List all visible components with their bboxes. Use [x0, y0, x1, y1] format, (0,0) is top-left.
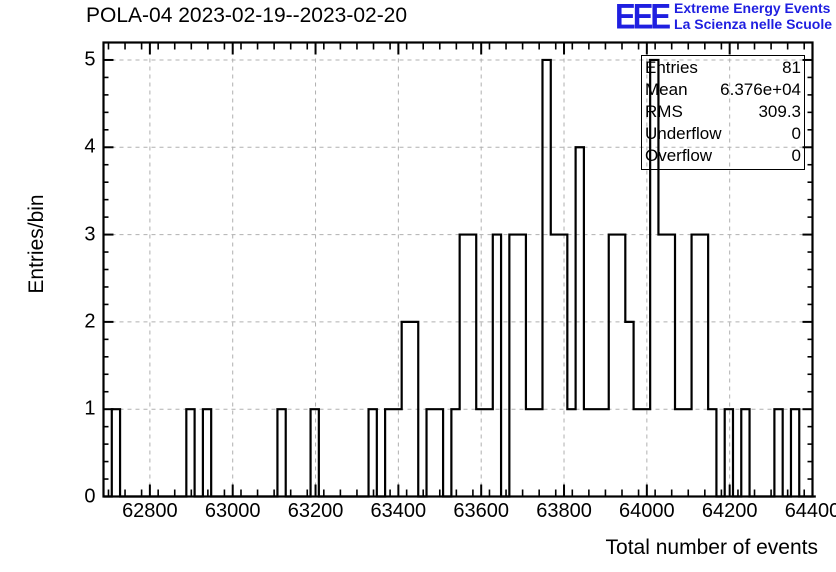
x-tick-label: 63200 — [271, 500, 361, 523]
stats-key-underflow: Underflow — [645, 123, 722, 145]
root-canvas: POLA-04 2023-02-19--2023-02-20 EEE Extre… — [0, 0, 836, 572]
stats-value-mean: 6.376e+04 — [720, 79, 801, 101]
stats-key-rms: RMS — [645, 101, 683, 123]
stats-row-underflow: Underflow 0 — [645, 123, 801, 145]
x-tick-label: 63000 — [188, 500, 278, 523]
eee-logo-mark: EEE — [615, 0, 668, 34]
y-axis-title: Entries/bin — [25, 144, 49, 344]
x-tick-label: 63600 — [436, 500, 526, 523]
stats-row-overflow: Overflow 0 — [645, 145, 801, 167]
stats-row-entries: Entries 81 — [645, 57, 801, 79]
x-tick-label: 64000 — [602, 500, 692, 523]
y-tick-label: 4 — [56, 136, 96, 159]
eee-logo-line2: La Scienza nelle Scuole — [674, 17, 832, 33]
x-tick-label: 64400 — [768, 500, 836, 523]
y-tick-label: 1 — [56, 398, 96, 421]
stats-key-mean: Mean — [645, 79, 688, 101]
stats-box: Entries 81 Mean 6.376e+04 RMS 309.3 Unde… — [641, 55, 805, 170]
y-tick-label: 2 — [56, 310, 96, 333]
eee-logo-line1: Extreme Energy Events — [674, 1, 832, 17]
x-axis-title: Total number of events — [0, 536, 818, 560]
stats-value-underflow: 0 — [792, 123, 801, 145]
y-tick-label: 3 — [56, 223, 96, 246]
stats-row-mean: Mean 6.376e+04 — [645, 79, 801, 101]
y-tick-label: 5 — [56, 48, 96, 71]
stats-key-entries: Entries — [645, 57, 698, 79]
x-tick-label: 63400 — [353, 500, 443, 523]
stats-value-entries: 81 — [782, 57, 801, 79]
x-tick-label: 62800 — [105, 500, 195, 523]
x-tick-label: 63800 — [519, 500, 609, 523]
y-tick-label: 0 — [56, 485, 96, 508]
stats-value-overflow: 0 — [792, 145, 801, 167]
page-title: POLA-04 2023-02-19--2023-02-20 — [86, 4, 407, 28]
eee-logo: EEE Extreme Energy Events La Scienza nel… — [615, 1, 832, 32]
stats-value-rms: 309.3 — [758, 101, 801, 123]
stats-key-overflow: Overflow — [645, 145, 712, 167]
x-tick-label: 64200 — [685, 500, 775, 523]
stats-row-rms: RMS 309.3 — [645, 101, 801, 123]
eee-logo-text: Extreme Energy Events La Scienza nelle S… — [674, 1, 832, 32]
